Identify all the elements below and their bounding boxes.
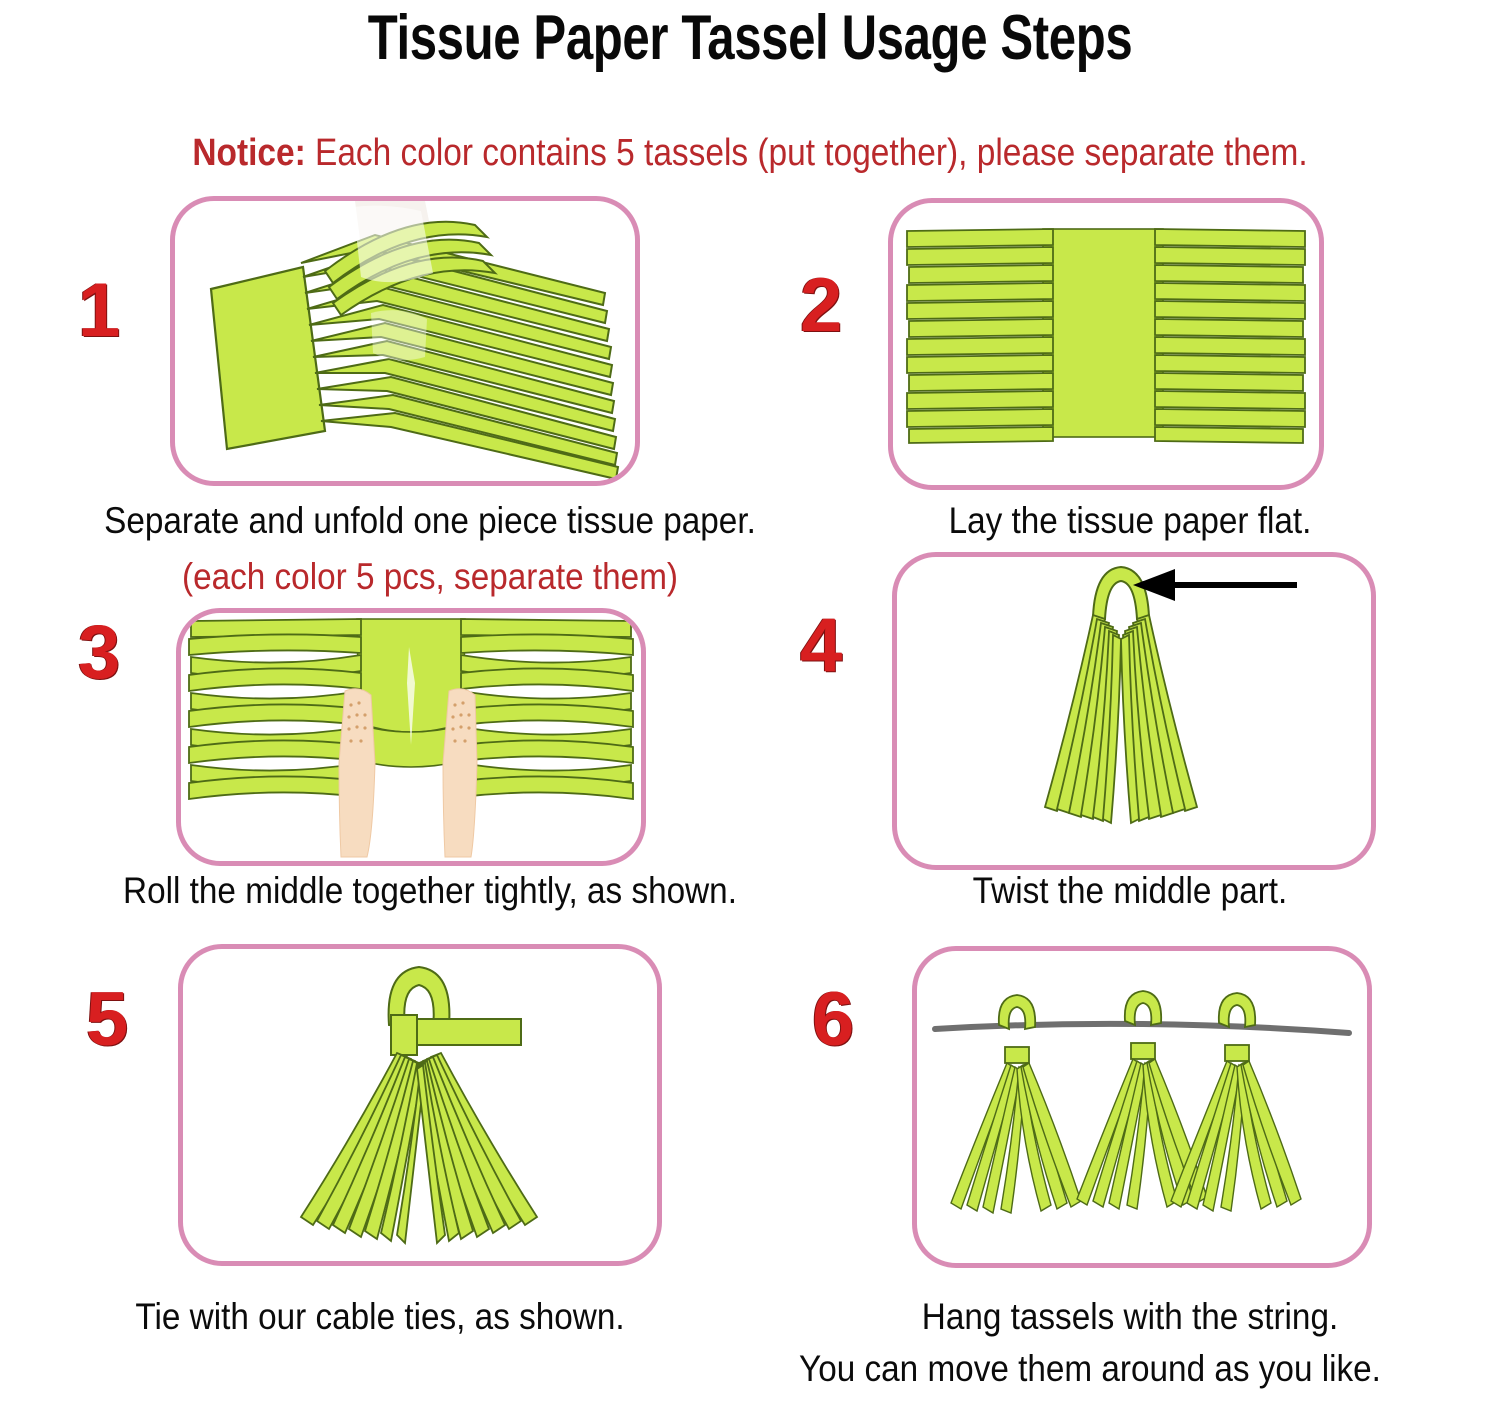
notice-line: Notice: Each color contains 5 tassels (p…: [90, 132, 1410, 175]
notice-text: Each color contains 5 tassels (put toget…: [306, 132, 1308, 174]
step-caption-1: Separate and unfold one piece tissue pap…: [43, 500, 817, 542]
step-caption-4: Twist the middle part.: [797, 870, 1463, 912]
step-subcaption-1: (each color 5 pcs, separate them): [43, 556, 817, 598]
step-number-4: 4: [800, 608, 842, 684]
step-panel-3: [176, 608, 646, 866]
step-caption-5: Tie with our cable ties, as shown.: [38, 1296, 722, 1338]
step-number-5: 5: [86, 982, 128, 1058]
left-hand: [339, 689, 375, 857]
illustration-unfolding-tissue: [175, 201, 635, 481]
step-subcaption-6: You can move them around as you like.: [721, 1348, 1459, 1390]
hanging-string: [935, 1024, 1349, 1033]
illustration-hanging-tassels: [917, 951, 1367, 1263]
step-panel-5: [178, 944, 662, 1266]
illustration-twisted-tassel: [897, 557, 1371, 865]
step-panel-4: [892, 552, 1376, 870]
direction-arrow-icon: [1133, 569, 1297, 601]
illustration-flat-tissue: [893, 203, 1319, 485]
notice-label: Notice:: [192, 132, 305, 174]
step-number-3: 3: [78, 615, 120, 691]
step-number-6: 6: [812, 982, 854, 1058]
step-number-1: 1: [78, 273, 120, 349]
step-caption-2: Lay the tissue paper flat.: [797, 500, 1463, 542]
instruction-sheet: Tissue Paper Tassel Usage Steps Notice: …: [0, 0, 1500, 1404]
step-number-2: 2: [800, 268, 842, 344]
illustration-tied-tassel: [183, 949, 657, 1261]
page-title: Tissue Paper Tassel Usage Steps: [165, 2, 1335, 74]
step-panel-6: [912, 946, 1372, 1268]
step-panel-1: [170, 196, 640, 486]
step-caption-3: Roll the middle together tightly, as sho…: [43, 870, 817, 912]
right-hand: [443, 689, 477, 857]
step-panel-2: [888, 198, 1324, 490]
step-caption-6: Hang tassels with the string.: [797, 1296, 1463, 1338]
illustration-rolling-middle: [181, 613, 641, 861]
